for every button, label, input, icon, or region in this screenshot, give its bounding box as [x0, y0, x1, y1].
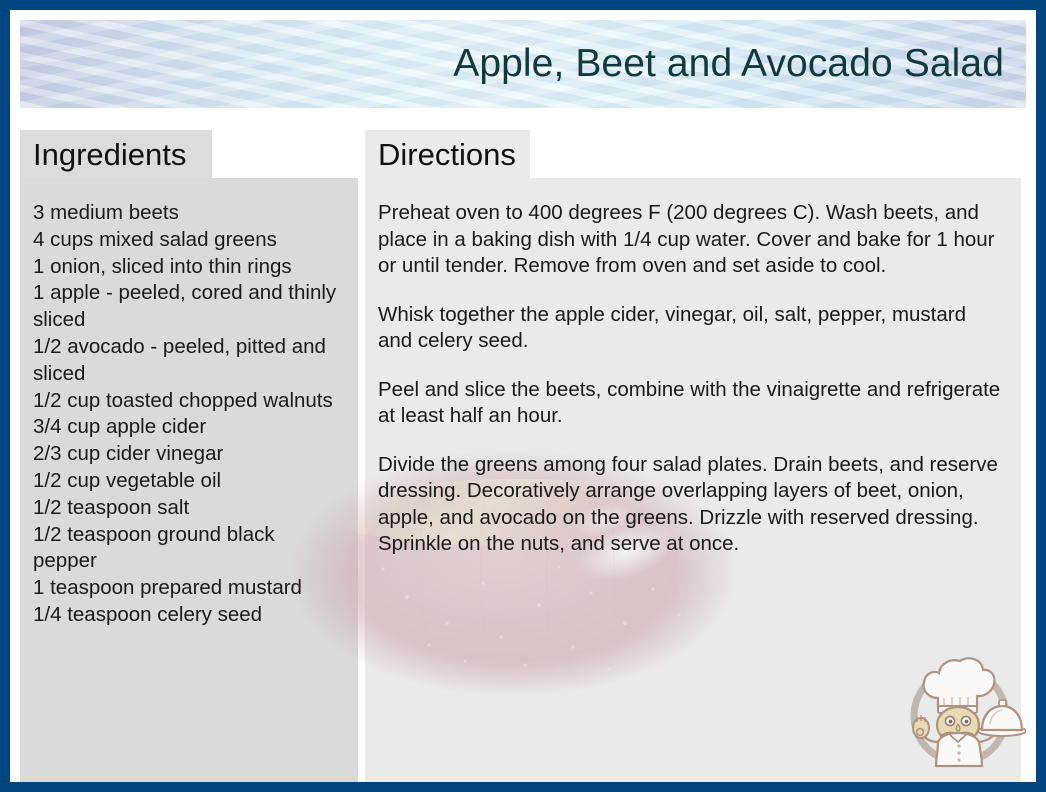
ingredient-item: 1/2 cup vegetable oil: [33, 468, 344, 495]
directions-section-header: Directions: [365, 130, 530, 178]
ingredients-heading-label: Ingredients: [33, 139, 186, 170]
ingredient-item: 3 medium beets: [33, 200, 344, 227]
direction-step: Peel and slice the beets, combine with t…: [378, 377, 1003, 430]
ingredient-item: 4 cups mixed salad greens: [33, 227, 344, 254]
recipe-title: Apple, Beet and Avocado Salad: [453, 42, 1004, 86]
ingredient-item: 1/2 avocado - peeled, pitted and sliced: [33, 334, 344, 388]
ingredient-item: 1 apple - peeled, cored and thinly slice…: [33, 280, 344, 334]
ingredient-item: 3/4 cup apple cider: [33, 414, 344, 441]
directions-heading-label: Directions: [378, 139, 516, 170]
ingredients-panel: 3 medium beets 4 cups mixed salad greens…: [20, 178, 358, 782]
title-banner: Apple, Beet and Avocado Salad: [20, 20, 1026, 108]
ingredient-item: 1/4 teaspoon celery seed: [33, 602, 344, 629]
directions-body: Preheat oven to 400 degrees F (200 degre…: [378, 200, 1003, 558]
ingredients-section-header: Ingredients: [20, 130, 212, 178]
card-canvas: Apple, Beet and Avocado Salad Ingredient…: [10, 10, 1036, 782]
ingredient-item: 1/2 cup toasted chopped walnuts: [33, 388, 344, 415]
ingredient-item: 2/3 cup cider vinegar: [33, 441, 344, 468]
recipe-card: Apple, Beet and Avocado Salad Ingredient…: [0, 0, 1046, 792]
ingredient-item: 1/2 teaspoon ground black pepper: [33, 522, 344, 576]
ingredient-item: 1 teaspoon prepared mustard: [33, 575, 344, 602]
ingredient-item: 1 onion, sliced into thin rings: [33, 254, 344, 281]
directions-panel: Preheat oven to 400 degrees F (200 degre…: [365, 178, 1021, 782]
ingredient-item: 1/2 teaspoon salt: [33, 495, 344, 522]
ingredients-list: 3 medium beets 4 cups mixed salad greens…: [33, 200, 344, 629]
direction-step: Whisk together the apple cider, vinegar,…: [378, 302, 1003, 355]
direction-step: Divide the greens among four salad plate…: [378, 452, 1003, 558]
direction-step: Preheat oven to 400 degrees F (200 degre…: [378, 200, 1003, 280]
